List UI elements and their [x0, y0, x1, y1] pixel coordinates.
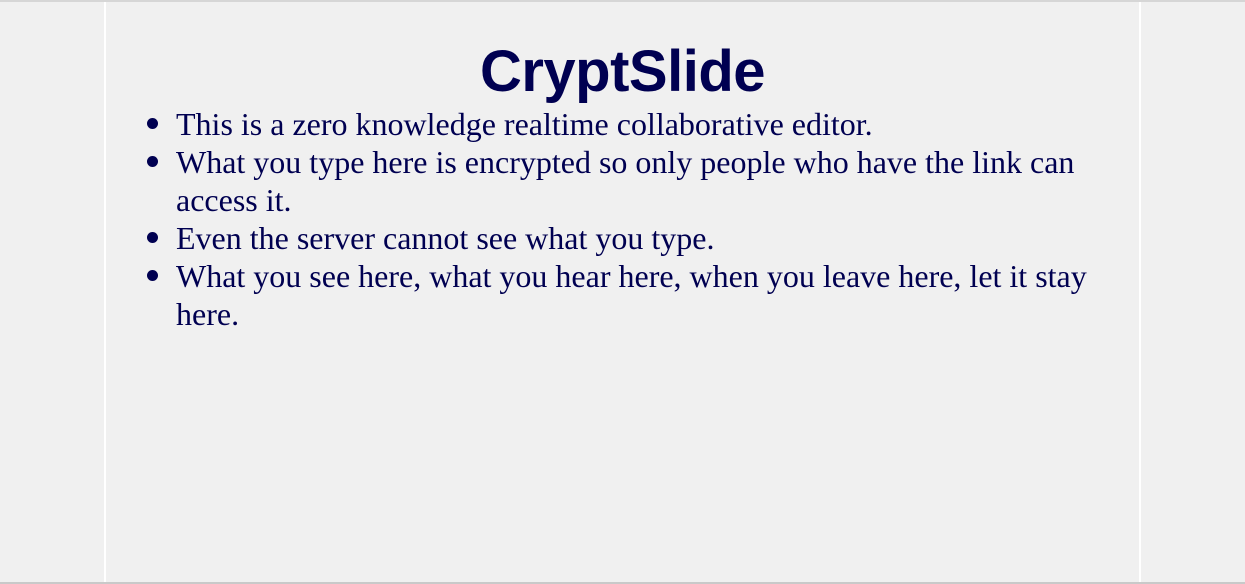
bullet-marker-icon: [147, 270, 158, 281]
bullet-marker-icon: [147, 232, 158, 243]
bullet-item-text: What you see here, what you hear here, w…: [176, 257, 1087, 333]
bullet-item-text: This is a zero knowledge realtime collab…: [176, 105, 1087, 143]
slide-title[interactable]: CryptSlide: [106, 2, 1139, 105]
bullet-marker-icon: [147, 118, 158, 129]
bullet-item-2[interactable]: What you type here is encrypted so only …: [106, 143, 1139, 219]
slide-bullet-list[interactable]: This is a zero knowledge realtime collab…: [106, 105, 1139, 333]
slide-viewport: CryptSlide This is a zero knowledge real…: [0, 0, 1245, 584]
bullet-item-4[interactable]: What you see here, what you hear here, w…: [106, 257, 1139, 333]
bullet-item-1[interactable]: This is a zero knowledge realtime collab…: [106, 105, 1139, 143]
slide-right-border: [1139, 2, 1141, 582]
bullet-item-text: What you type here is encrypted so only …: [176, 143, 1087, 219]
bullet-item-text: Even the server cannot see what you type…: [176, 219, 1087, 257]
bullet-marker-icon: [147, 156, 158, 167]
slide-canvas[interactable]: CryptSlide This is a zero knowledge real…: [106, 2, 1139, 582]
bullet-item-3[interactable]: Even the server cannot see what you type…: [106, 219, 1139, 257]
